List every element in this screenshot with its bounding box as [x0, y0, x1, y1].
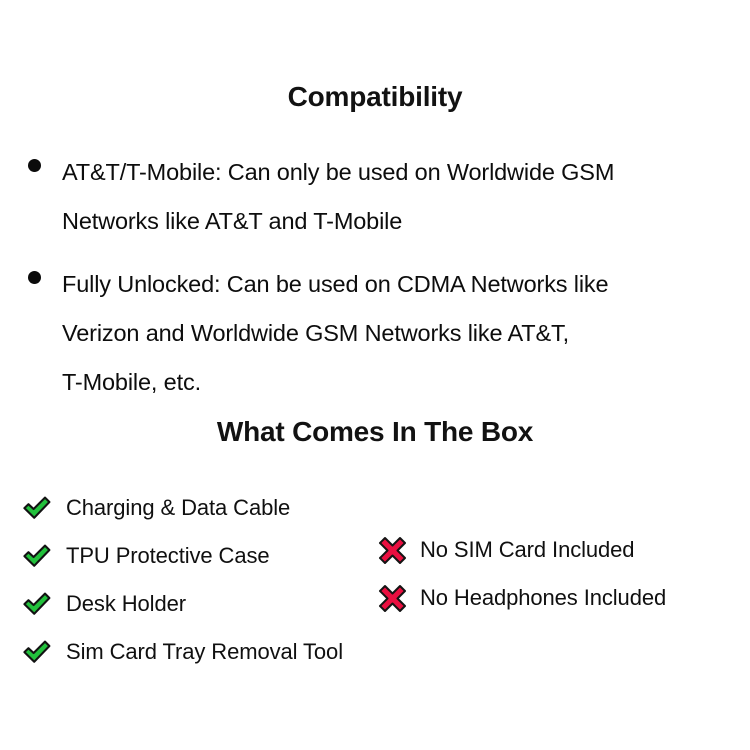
list-item: No Headphones Included [378, 574, 666, 622]
filled-circle-bullet-icon [28, 159, 41, 172]
not-included-item-label: No Headphones Included [420, 587, 666, 609]
compatibility-heading: Compatibility [0, 81, 750, 113]
compatibility-bullet-text: AT&T/T-Mobile: Can only be used on World… [28, 148, 734, 246]
list-item: AT&T/T-Mobile: Can only be used on World… [28, 148, 734, 246]
red-x-icon [378, 536, 420, 565]
list-item: Desk Holder [22, 580, 343, 628]
included-items-list: Charging & Data Cable TPU Protective Cas… [22, 484, 343, 676]
green-check-icon [22, 639, 66, 665]
not-included-items-list: No SIM Card Included No Headphones Inclu… [378, 526, 666, 622]
list-item: Charging & Data Cable [22, 484, 343, 532]
included-item-label: Charging & Data Cable [66, 497, 290, 519]
included-item-label: TPU Protective Case [66, 545, 270, 567]
green-check-icon [22, 591, 66, 617]
red-x-icon [378, 584, 420, 613]
in-the-box-heading: What Comes In The Box [0, 416, 750, 448]
in-the-box-columns: Charging & Data Cable TPU Protective Cas… [0, 484, 750, 664]
filled-circle-bullet-icon [28, 271, 41, 284]
not-included-item-label: No SIM Card Included [420, 539, 634, 561]
list-item: Sim Card Tray Removal Tool [22, 628, 343, 676]
list-item: No SIM Card Included [378, 526, 666, 574]
product-info-page: Compatibility AT&T/T-Mobile: Can only be… [0, 0, 750, 750]
included-item-label: Sim Card Tray Removal Tool [66, 641, 343, 663]
green-check-icon [22, 543, 66, 569]
green-check-icon [22, 495, 66, 521]
list-item: Fully Unlocked: Can be used on CDMA Netw… [28, 260, 734, 407]
compatibility-bullet-list: AT&T/T-Mobile: Can only be used on World… [28, 148, 734, 407]
compatibility-bullet-text: Fully Unlocked: Can be used on CDMA Netw… [28, 260, 734, 407]
list-item: TPU Protective Case [22, 532, 343, 580]
included-item-label: Desk Holder [66, 593, 186, 615]
